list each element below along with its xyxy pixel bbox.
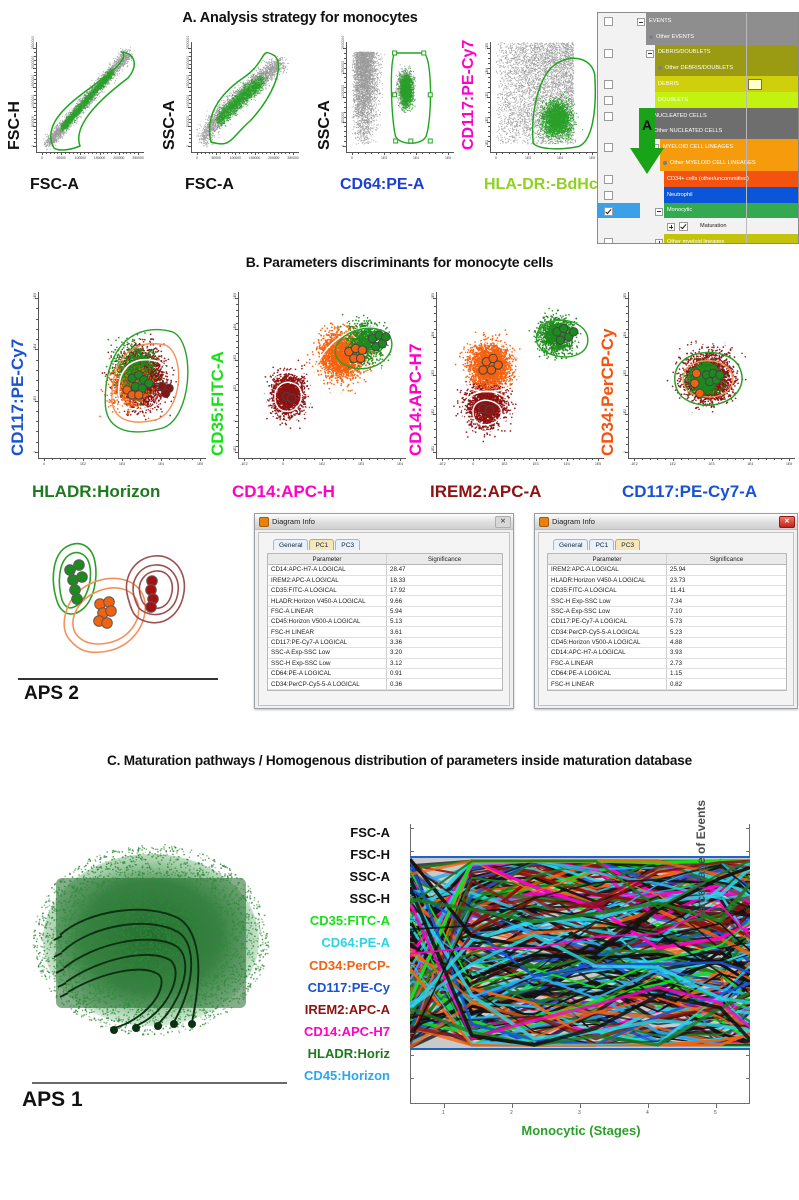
tree-row[interactable]: Maturation xyxy=(598,218,798,234)
x-minor-tick xyxy=(92,152,93,154)
significance-cell: 0.82 xyxy=(667,679,786,688)
parameter-cell: CD35:FITC-A LOGICAL xyxy=(548,586,667,595)
x-axis-label: CD64:PE-A xyxy=(340,176,424,194)
tree-row-band: Neutrophil xyxy=(664,187,799,203)
expand-plus-icon[interactable] xyxy=(655,239,663,244)
population-tree-panel[interactable]: EVENTSOther EVENTSDEBRIS/DOUBLETSOther D… xyxy=(597,12,799,244)
x-tick xyxy=(448,152,449,155)
column-header[interactable]: Significance xyxy=(667,554,786,564)
x-tick xyxy=(712,458,713,461)
y-tick xyxy=(746,896,750,897)
tree-row[interactable]: Other NUCLEATED CELLS xyxy=(598,124,798,140)
aps2-rule xyxy=(18,678,218,680)
x-minor-tick xyxy=(77,152,78,154)
scatter-surface xyxy=(490,42,598,152)
x-tick xyxy=(789,458,790,461)
y-tick-label: 1E2 xyxy=(623,408,627,414)
x-minor-tick xyxy=(392,458,393,460)
x-minor-tick xyxy=(278,152,279,154)
table-row: CD34:PerCP-Cy5-5-A LOGICAL5.23 xyxy=(548,627,786,637)
x-tick xyxy=(244,458,245,461)
x-minor-tick xyxy=(719,458,720,460)
tree-column-divider xyxy=(746,13,747,243)
panel-b-plot-1: 01E21E31E41E501E31E41E5HLADR:HorizonCD11… xyxy=(10,288,210,484)
collapse-minus-icon[interactable] xyxy=(655,208,663,216)
x-minor-tick xyxy=(306,458,307,460)
tree-row[interactable]: Other MYELOID CELL LINEAGES xyxy=(598,155,798,171)
x-minor-tick xyxy=(561,458,562,460)
x-minor-tick xyxy=(169,458,170,460)
tree-row-band: DEBRIS/DOUBLETS xyxy=(655,45,799,61)
tree-row[interactable]: Other DEBRIS/DOUBLETS xyxy=(598,60,798,76)
table-row: SSC-A Exp-SSC Low7.10 xyxy=(548,607,786,617)
y-tick-label: 0 xyxy=(233,420,237,422)
tree-checkbox[interactable] xyxy=(604,143,613,152)
x-minor-tick xyxy=(201,152,202,154)
x-axis-label: FSC-A xyxy=(185,176,234,194)
x-tick xyxy=(197,152,198,155)
tree-checkbox[interactable] xyxy=(604,175,613,184)
x-tick-label: 1E3 xyxy=(533,462,539,466)
parameter-cell: CD117:PE-Cy7-A LOGICAL xyxy=(268,638,387,647)
y-tick-label: 1E5 xyxy=(33,293,37,299)
x-tick-label: 0 xyxy=(282,462,284,466)
scatter-surface xyxy=(38,292,206,458)
x-minor-tick xyxy=(369,458,370,460)
y-tick-label: 1E4 xyxy=(431,331,435,337)
x-axis-label: HLA-DR:-BdHc xyxy=(484,176,598,194)
x-tick xyxy=(44,458,45,461)
tab-pc3[interactable]: PC3 xyxy=(335,539,360,550)
x-minor-tick xyxy=(554,458,555,460)
column-header[interactable]: Parameter xyxy=(548,554,667,564)
x-minor-tick xyxy=(642,458,643,460)
expand-plus-icon[interactable] xyxy=(667,223,675,231)
y-tick xyxy=(746,1078,750,1079)
x-minor-tick xyxy=(232,152,233,154)
x-minor-tick xyxy=(435,152,436,154)
tree-checkbox[interactable] xyxy=(604,49,613,58)
y-tick xyxy=(746,851,750,852)
y-tick-label: 2000000 xyxy=(186,55,190,68)
y-tick-label: 1E5 xyxy=(233,293,237,299)
x-minor-tick xyxy=(665,458,666,460)
tree-row[interactable]: Other myeloid lineages xyxy=(598,234,798,244)
tree-row[interactable]: DEBRIS/DOUBLETS xyxy=(598,45,798,61)
parameter-cell: HLADR:Horizon V450-A LOGICAL xyxy=(268,596,387,605)
parallel-parameter-label: CD34:PerCP- xyxy=(230,955,390,977)
parameter-cell: IREM2:APC-A LOGICAL xyxy=(268,576,387,585)
y-tick xyxy=(746,828,750,829)
x-axis-line xyxy=(191,152,299,153)
tree-row[interactable]: NUCLEATED CELLS xyxy=(598,108,798,124)
x-tick xyxy=(200,458,201,461)
parameter-cell: CD34:PerCP-Cy5-5-A LOGICAL xyxy=(548,627,667,636)
x-tick-label: 250000 xyxy=(132,156,143,160)
significance-cell: 3.20 xyxy=(387,648,502,657)
y-axis-label: SSC-A xyxy=(316,100,334,150)
x-minor-tick xyxy=(586,152,587,154)
x-axis-line xyxy=(36,152,144,153)
x-minor-tick xyxy=(75,458,76,460)
tab-pc1[interactable]: PC1 xyxy=(589,539,614,550)
x-minor-tick xyxy=(184,458,185,460)
x-tick-label: 3 xyxy=(578,1110,581,1116)
x-minor-tick xyxy=(461,458,462,460)
table-row: SSC-A Exp-SSC Low3.20 xyxy=(268,648,502,658)
tree-row-label: Other DEBRIS/DOUBLETS xyxy=(665,65,733,71)
parameter-cell: FSC-H LINEAR xyxy=(268,627,387,636)
x-minor-tick xyxy=(541,152,542,154)
x-minor-tick xyxy=(365,152,366,154)
x-minor-tick xyxy=(291,458,292,460)
dialog-body: GeneralPC1PC3 ParameterSignificanceCD14:… xyxy=(258,532,510,706)
x-minor-tick xyxy=(517,458,518,460)
x-minor-tick xyxy=(509,152,510,154)
table-row: IREM2:APC-A LOGICAL18.33 xyxy=(268,576,502,586)
x-minor-tick xyxy=(65,152,66,154)
tab-general[interactable]: General xyxy=(273,539,308,550)
x-tick xyxy=(512,1104,513,1108)
close-icon[interactable]: ✕ xyxy=(495,516,511,528)
tab-general[interactable]: General xyxy=(553,539,588,550)
y-tick-label: 1E3 xyxy=(33,396,37,402)
dialog-body: GeneralPC1PC3 ParameterSignificanceIREM2… xyxy=(538,532,794,706)
tree-row[interactable]: DOUBLETS xyxy=(598,92,798,108)
x-tick xyxy=(283,458,284,461)
x-minor-tick xyxy=(88,152,89,154)
x-minor-tick xyxy=(114,458,115,460)
x-tick xyxy=(384,152,385,155)
x-minor-tick xyxy=(99,458,100,460)
tree-checkbox[interactable] xyxy=(604,80,613,89)
y-tick xyxy=(746,1010,750,1011)
x-tick xyxy=(61,152,62,155)
scatter-surface xyxy=(36,42,144,152)
y-tick xyxy=(410,1078,414,1079)
x-minor-tick xyxy=(657,458,658,460)
x-tick-label: 1E3 xyxy=(708,462,714,466)
x-minor-tick xyxy=(592,458,593,460)
x-minor-tick xyxy=(130,152,131,154)
x-tick-label: 2 xyxy=(510,1110,513,1116)
x-minor-tick xyxy=(650,458,651,460)
tree-checkbox[interactable] xyxy=(604,191,613,200)
green-arrow-annotation: A xyxy=(630,108,664,174)
x-tick-label: -1E2 xyxy=(240,462,247,466)
y-axis-label: CD117:PE-Cy7 xyxy=(460,40,478,150)
x-minor-tick xyxy=(403,152,404,154)
table-row: CD35:FITC-A LOGICAL17.92 xyxy=(268,586,502,596)
table-row: SSC-H Exp-SSC Low7.34 xyxy=(548,596,786,606)
diagram-info-window-pc3[interactable]: Diagram Info ✕ GeneralPC1PC3 ParameterSi… xyxy=(534,513,798,709)
significance-cell: 17.92 xyxy=(387,586,502,595)
tree-checkbox[interactable] xyxy=(604,112,613,121)
tree-row[interactable]: DEBRIS xyxy=(598,76,798,92)
x-minor-tick xyxy=(345,458,346,460)
x-minor-tick xyxy=(371,152,372,154)
x-tick-label: 1E2 xyxy=(80,462,86,466)
x-minor-tick xyxy=(523,458,524,460)
x-minor-tick xyxy=(529,458,530,460)
y-tick xyxy=(410,1010,414,1011)
table-header-row: ParameterSignificance xyxy=(268,554,502,565)
x-axis-label: HLADR:Horizon xyxy=(32,482,160,502)
significance-cell: 2.73 xyxy=(667,659,786,668)
arrow-head xyxy=(630,148,664,174)
tree-row[interactable]: CD34+ cells (other/uncommitted) xyxy=(598,171,798,187)
x-minor-tick xyxy=(267,458,268,460)
parallel-parameter-label: CD117:PE-Cy xyxy=(230,977,390,999)
x-tick-label: 1E5 xyxy=(589,156,595,160)
significance-cell: 25.94 xyxy=(667,565,786,574)
x-minor-tick xyxy=(153,458,154,460)
x-minor-tick xyxy=(50,152,51,154)
y-tick xyxy=(410,987,414,988)
significance-cell: 7.34 xyxy=(667,596,786,605)
significance-table-pc1: ParameterSignificanceCD14:APC-H7-A LOGIC… xyxy=(267,553,503,691)
parallel-parameter-label: CD35:FITC-A xyxy=(230,910,390,932)
table-row: CD64:PE-A LOGICAL1.15 xyxy=(548,669,786,679)
column-header[interactable]: Significance xyxy=(387,554,502,564)
y-axis-label: Percentage of Events xyxy=(694,800,708,922)
x-minor-tick xyxy=(260,458,261,460)
x-tick-label: 1E4 xyxy=(413,156,419,160)
x-minor-tick xyxy=(515,152,516,154)
x-axis-label: FSC-A xyxy=(30,176,79,194)
tree-checkbox[interactable] xyxy=(604,207,613,216)
x-minor-tick xyxy=(106,458,107,460)
y-axis-label: CD117:PE-Cy7 xyxy=(8,339,28,456)
x-minor-tick xyxy=(498,458,499,460)
filter-badge-icon[interactable] xyxy=(748,79,762,90)
y-tick xyxy=(746,987,750,988)
tree-row-band: DOUBLETS xyxy=(655,92,799,108)
scatter-surface xyxy=(346,42,454,152)
dialog-title-bar[interactable]: Diagram Info ✕ xyxy=(535,514,797,530)
y-tick-label: 0 xyxy=(33,451,37,453)
panel-a-plot-4: 01E31E41E5-1E21E21E31E41E5HLA-DR:-BdHcCD… xyxy=(462,38,602,178)
table-row: SSC-H Exp-SSC Low3.12 xyxy=(268,659,502,669)
y-tick xyxy=(746,964,750,965)
x-tick xyxy=(504,458,505,461)
x-minor-tick xyxy=(579,152,580,154)
y-tick-label: 0 xyxy=(186,145,190,147)
table-row: HLADR:Horizon V450-A LOGICAL9.66 xyxy=(268,596,502,606)
y-tick xyxy=(410,828,414,829)
x-minor-tick xyxy=(377,458,378,460)
x-tick-label: 50000 xyxy=(211,156,220,160)
column-header[interactable]: Parameter xyxy=(268,554,387,564)
x-minor-tick xyxy=(103,152,104,154)
panel-a-plot-2: 0500001000001500002000002500000500000100… xyxy=(163,38,303,178)
x-minor-tick xyxy=(67,458,68,460)
parallel-coordinates-plot: Monocytic (Stages) Percentage of Events … xyxy=(398,818,764,1140)
dialog-title-bar[interactable]: Diagram Info ✕ xyxy=(255,514,513,530)
x-minor-tick xyxy=(542,458,543,460)
tab-strip-pc1[interactable]: GeneralPC1PC3 xyxy=(273,539,361,550)
x-minor-tick xyxy=(205,152,206,154)
significance-cell: 5.23 xyxy=(667,627,786,636)
table-row: FSC-A LINEAR5.94 xyxy=(268,607,502,617)
x-minor-tick xyxy=(735,458,736,460)
x-minor-tick xyxy=(192,458,193,460)
tree-row-label: Neutrophil xyxy=(667,192,693,198)
x-minor-tick xyxy=(492,458,493,460)
parallel-parameter-label: CD45:Horizon xyxy=(230,1065,390,1087)
tree-row-label: DEBRIS xyxy=(658,81,679,87)
x-tick xyxy=(598,458,599,461)
table-row: HLADR:Horizon V450-A LOGICAL23.73 xyxy=(548,576,786,586)
x-axis-label: Monocytic (Stages) xyxy=(398,1123,764,1138)
maturation-checkbox[interactable] xyxy=(679,222,688,231)
y-tick-label: 1E3 xyxy=(233,355,237,361)
y-tick-label: 0 xyxy=(623,451,627,453)
tab-strip-pc3[interactable]: GeneralPC1PC3 xyxy=(553,539,641,550)
parameter-cell: CD64:PE-A LOGICAL xyxy=(268,669,387,678)
x-tick-label: 150000 xyxy=(94,156,105,160)
parallel-parameter-label: FSC-H xyxy=(230,844,390,866)
y-tick-label: 1E5 xyxy=(431,293,435,299)
significance-cell: 0.91 xyxy=(387,669,502,678)
x-tick xyxy=(322,458,323,461)
x-tick-label: 0 xyxy=(351,156,353,160)
node-bullet-icon xyxy=(649,35,653,39)
x-minor-tick xyxy=(138,458,139,460)
scatter-surface xyxy=(628,292,795,458)
y-tick xyxy=(746,942,750,943)
panel-b-plot-3: -1E201E21E31E41E5-1E21E21E31E41E5IREM2:A… xyxy=(408,288,608,484)
collapse-minus-icon[interactable] xyxy=(646,50,654,58)
x-minor-tick xyxy=(115,152,116,154)
x-tick-label: 1E4 xyxy=(557,156,563,160)
tab-pc3[interactable]: PC3 xyxy=(615,539,640,550)
x-tick xyxy=(473,458,474,461)
x-minor-tick xyxy=(338,458,339,460)
x-minor-tick xyxy=(573,458,574,460)
x-tick-label: 1E2 xyxy=(670,462,676,466)
diagram-info-window-pc1[interactable]: Diagram Info ✕ GeneralPC1PC3 ParameterSi… xyxy=(254,513,514,709)
tree-checkbox[interactable] xyxy=(604,96,613,105)
x-minor-tick xyxy=(522,152,523,154)
y-tick-label: 1E4 xyxy=(623,331,627,337)
aps2-label: APS 2 xyxy=(24,683,79,705)
x-tick xyxy=(100,152,101,155)
y-tick-label: 2500000 xyxy=(31,36,35,49)
collapse-minus-icon[interactable] xyxy=(637,18,645,26)
x-minor-tick xyxy=(579,458,580,460)
x-minor-tick xyxy=(314,458,315,460)
x-minor-tick xyxy=(212,152,213,154)
y-axis-label: CD35:FITC-A xyxy=(208,351,228,456)
x-minor-tick xyxy=(54,152,55,154)
close-icon[interactable]: ✕ xyxy=(779,516,795,528)
x-minor-tick xyxy=(511,458,512,460)
significance-cell: 18.33 xyxy=(387,576,502,585)
tree-row-band: EVENTS xyxy=(646,13,799,29)
y-tick xyxy=(410,1033,414,1034)
tree-row-band: Maturation xyxy=(676,218,799,234)
x-minor-tick xyxy=(209,152,210,154)
y-tick xyxy=(746,873,750,874)
tree-row-band: Other NUCLEATED CELLS xyxy=(651,124,799,140)
x-axis-label: CD14:APC-H xyxy=(232,482,335,502)
y-tick-label: 1E5 xyxy=(623,293,627,299)
node-bullet-icon xyxy=(658,66,662,70)
tab-pc1[interactable]: PC1 xyxy=(309,539,334,550)
y-tick-label: 1500000 xyxy=(31,75,35,88)
x-tick-label: 100000 xyxy=(75,156,86,160)
tree-row[interactable]: Monocytic xyxy=(598,203,798,219)
parallel-parameter-label: FSC-A xyxy=(230,822,390,844)
significance-cell: 0.36 xyxy=(387,679,502,688)
tree-checkbox[interactable] xyxy=(604,238,613,244)
x-tick xyxy=(648,1104,649,1108)
app-icon xyxy=(259,517,269,527)
x-tick xyxy=(560,152,561,155)
scatter-surface xyxy=(191,42,299,152)
parameter-cell: CD117:PE-Cy7-A LOGICAL xyxy=(548,617,667,626)
x-minor-tick xyxy=(251,152,252,154)
tree-row-label: EVENTS xyxy=(649,18,671,24)
tree-row[interactable]: MYELOID CELL LINEAGES xyxy=(598,139,798,155)
scatter-surface xyxy=(238,292,406,458)
table-row: CD117:PE-Cy7-A LOGICAL3.36 xyxy=(268,638,502,648)
x-minor-tick xyxy=(448,458,449,460)
x-tick xyxy=(400,458,401,461)
significance-cell: 5.13 xyxy=(387,617,502,626)
y-axis-label: FSC-H xyxy=(6,101,24,150)
x-minor-tick xyxy=(60,458,61,460)
tree-row[interactable]: Neutrophil xyxy=(598,187,798,203)
significance-cell: 28.47 xyxy=(387,565,502,574)
tree-row[interactable]: EVENTS xyxy=(598,13,798,29)
y-tick-label: 1E5 xyxy=(485,43,489,49)
x-tick-label: 50000 xyxy=(56,156,65,160)
x-minor-tick xyxy=(228,152,229,154)
x-minor-tick xyxy=(573,152,574,154)
panel-b-plot-2: -1E201E21E31E4-1E201E21E31E41E5CD14:APC-… xyxy=(210,288,410,484)
x-minor-tick xyxy=(107,152,108,154)
x-minor-tick xyxy=(52,458,53,460)
parameter-cell: FSC-A LINEAR xyxy=(268,607,387,616)
x-tick xyxy=(528,152,529,155)
tree-row-band: Other MYELOID CELL LINEAGES xyxy=(660,155,799,171)
x-tick-label: -1E2 xyxy=(630,462,637,466)
x-tick-label: 1E5 xyxy=(197,462,203,466)
x-minor-tick xyxy=(384,458,385,460)
x-tick xyxy=(293,152,294,155)
panel-a-plot-3: 01E31E41E50500000100000015000002000000CD… xyxy=(318,38,458,178)
table-row: FSC-H LINEAR0.82 xyxy=(548,679,786,689)
x-minor-tick xyxy=(586,458,587,460)
x-minor-tick xyxy=(270,152,271,154)
parallel-parameter-label: CD64:PE-A xyxy=(230,932,390,954)
x-minor-tick xyxy=(123,152,124,154)
x-minor-tick xyxy=(91,458,92,460)
y-tick xyxy=(410,919,414,920)
x-minor-tick xyxy=(266,152,267,154)
y-tick-label: 1500000 xyxy=(186,75,190,88)
parameter-cell: SSC-A Exp-SSC Low xyxy=(548,607,667,616)
x-minor-tick xyxy=(134,152,135,154)
tree-checkbox[interactable] xyxy=(604,17,613,26)
dialog-title-text: Diagram Info xyxy=(552,517,595,526)
tree-row-label: Other NUCLEATED CELLS xyxy=(654,128,722,134)
x-minor-tick xyxy=(281,152,282,154)
x-tick xyxy=(592,152,593,155)
tree-row[interactable]: Other EVENTS xyxy=(598,29,798,45)
